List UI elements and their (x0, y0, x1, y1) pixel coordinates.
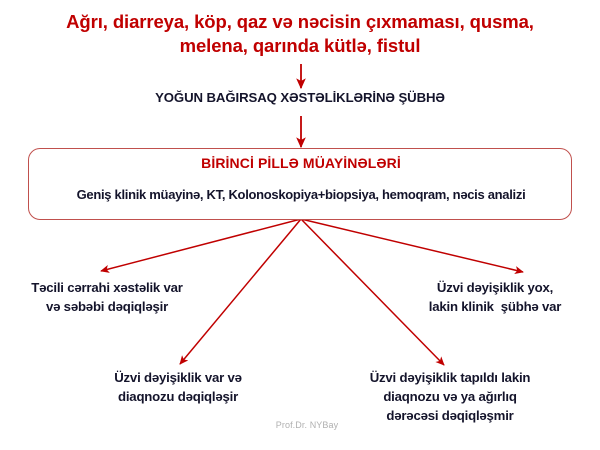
author-watermark: Prof.Dr. NYBay (252, 420, 362, 430)
arrow-to-outcome-right (301, 219, 523, 272)
flowchart-slide: Ağrı, diarreya, köp, qaz və nəcisin çıxm… (0, 0, 600, 450)
outcome-label-organic-change-diagnosed: Üzvi dəyişiklik var və diaqnozu dəqiqləş… (78, 368, 278, 406)
outcome-label-organic-change-undetermined: Üzvi dəyişiklik tapıldı lakin diaqnozu v… (342, 368, 558, 425)
outcome-label-no-organic-change: Üzvi dəyişiklik yox, lakin klinik şübhə … (394, 278, 596, 316)
symptoms-heading: Ağrı, diarreya, köp, qaz və nəcisin çıxm… (40, 10, 560, 57)
first-stage-detail: Geniş klinik müayinə, KT, Kolonoskopiya+… (35, 187, 567, 202)
first-stage-title: BİRİNCİ PİLLƏ MÜAYİNƏLƏRİ (29, 155, 573, 171)
suspicion-label: YOĞUN BAĞIRSAQ XƏSTƏLİKLƏRİNƏ ŞÜBHƏ (60, 90, 540, 107)
first-stage-box: BİRİNCİ PİLLƏ MÜAYİNƏLƏRİ Geniş klinik m… (28, 148, 572, 220)
outcome-label-urgent-surgical: Təcili cərrahi xəstəlik var və səbəbi də… (4, 278, 210, 316)
arrow-to-outcome-left (101, 219, 301, 271)
